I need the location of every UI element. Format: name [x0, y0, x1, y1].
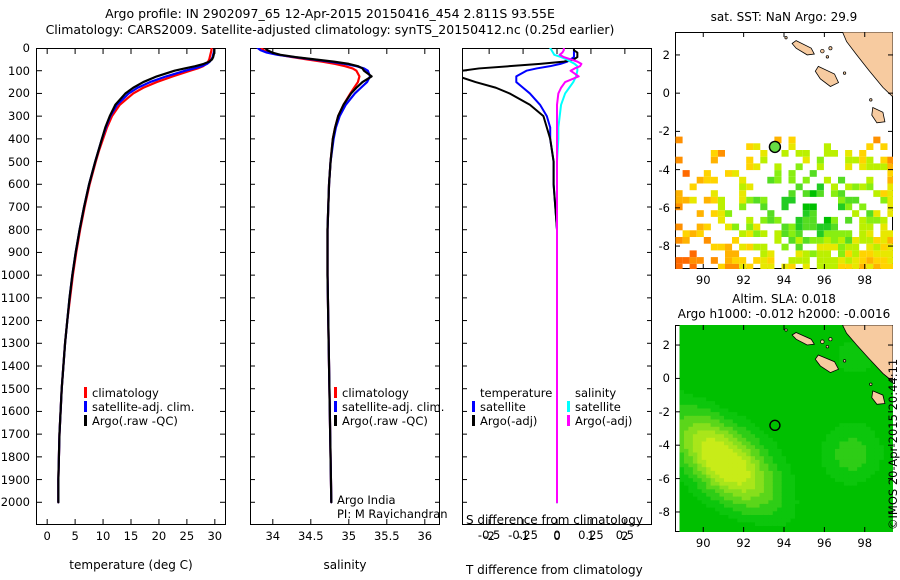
sla-cell [746, 503, 751, 507]
sla-cell [857, 390, 862, 394]
sst-cell [803, 157, 810, 164]
sla-cell [728, 437, 733, 441]
sla-cell [795, 371, 800, 375]
sla-cell [817, 518, 822, 522]
sla-cell [786, 507, 791, 511]
sla-cell [857, 456, 862, 460]
sla-cell [733, 331, 738, 335]
sla-cell [786, 518, 791, 522]
sla-cell [866, 522, 871, 526]
sla-cell [755, 522, 760, 526]
tick-label: 1700 [1, 427, 30, 441]
sla-cell [786, 379, 791, 383]
sla-cell [724, 467, 729, 471]
sla-cell [702, 371, 707, 375]
sla-cell [791, 478, 796, 482]
sla-cell [768, 338, 773, 342]
sla-cell [804, 426, 809, 430]
sla-cell [799, 496, 804, 500]
legend-heading-temperature: temperature [472, 386, 552, 400]
sla-cell [728, 522, 733, 526]
sla-cell [853, 525, 858, 529]
sla-cell [786, 386, 791, 390]
sla-cell [688, 522, 693, 526]
sla-cell [724, 331, 729, 335]
sla-cell [871, 503, 876, 507]
sst-cell [718, 264, 725, 269]
sla-cell [862, 412, 867, 416]
sst-cell [866, 210, 873, 217]
sla-cell [728, 445, 733, 449]
sla-cell [871, 379, 876, 383]
sla-cell [684, 507, 689, 511]
sla-cell [866, 507, 871, 511]
sla-cell [764, 525, 769, 529]
sla-cell [733, 401, 738, 405]
sla-cell [822, 404, 827, 408]
sla-cell [755, 467, 760, 471]
sla-cell [764, 331, 769, 335]
sla-cell [711, 364, 716, 368]
sla-cell [733, 338, 738, 342]
sla-cell [693, 401, 698, 405]
sla-cell [835, 331, 840, 335]
sla-cell [688, 371, 693, 375]
sla-cell [706, 356, 711, 360]
sla-cell [839, 518, 844, 522]
legend-swatch-t-satellite [472, 401, 475, 412]
sla-cell [684, 371, 689, 375]
sla-cell [791, 379, 796, 383]
sla-cell [693, 430, 698, 434]
sst-cell [838, 177, 845, 184]
sla-cell [871, 456, 876, 460]
sla-cell [760, 456, 765, 460]
sla-cell [817, 375, 822, 379]
sla-cell [857, 470, 862, 474]
sla-cell [720, 441, 725, 445]
tick-label: 2000 [1, 495, 30, 509]
sla-cell [711, 452, 716, 456]
sla-cell [848, 467, 853, 471]
salinity-curves [258, 48, 372, 502]
sla-cell [813, 481, 818, 485]
sla-cell [844, 379, 849, 383]
sla-cell [782, 404, 787, 408]
sla-cell [724, 452, 729, 456]
land-islet [826, 345, 829, 348]
sla-cell [702, 325, 707, 328]
sla-cell [862, 511, 867, 515]
sla-cell [693, 437, 698, 441]
sla-cell [697, 511, 702, 515]
sla-cell [862, 470, 867, 474]
sla-cell [799, 485, 804, 489]
sst-cell [810, 250, 817, 257]
argo-float-marker[interactable] [769, 141, 780, 152]
sla-cell [853, 426, 858, 430]
sla-cell [688, 338, 693, 342]
sla-cell [702, 478, 707, 482]
sla-cell [817, 452, 822, 456]
sla-cell [733, 470, 738, 474]
sla-cell [853, 456, 858, 460]
sla-cell [831, 459, 836, 463]
sla-cell [742, 452, 747, 456]
sla-cell [742, 496, 747, 500]
sla-cell [711, 470, 716, 474]
sla-cell [808, 507, 813, 511]
sla-cell [795, 379, 800, 383]
sst-cell [845, 250, 852, 257]
sla-cell [751, 390, 756, 394]
sla-cell [839, 459, 844, 463]
sla-cell [879, 485, 884, 489]
sla-cell [866, 415, 871, 419]
sla-cell [697, 478, 702, 482]
sla-cell [720, 481, 725, 485]
sla-cell [706, 445, 711, 449]
sla-cell [848, 470, 853, 474]
sla-cell [826, 470, 831, 474]
sla-cell [751, 364, 756, 368]
sla-cell [848, 496, 853, 500]
sla-cell [773, 503, 778, 507]
sla-cell [684, 452, 689, 456]
sla-cell [680, 441, 685, 445]
sla-cell [822, 441, 827, 445]
sst-cell [803, 264, 810, 269]
sla-cell [844, 386, 849, 390]
sla-cell [879, 456, 884, 460]
sla-cell [742, 503, 747, 507]
sla-cell [831, 485, 836, 489]
sla-cell [822, 390, 827, 394]
sst-cell [859, 230, 866, 237]
sla-cell [693, 441, 698, 445]
sla-cell [768, 379, 773, 383]
sla-cell [813, 345, 818, 349]
sla-cell [760, 511, 765, 515]
sla-cell [795, 481, 800, 485]
sla-cell [737, 503, 742, 507]
sst-cell [866, 184, 873, 191]
sla-cell [733, 437, 738, 441]
sla-cell [804, 470, 809, 474]
sla-cell [742, 360, 747, 364]
sla-cell [875, 441, 880, 445]
panel-temperature: climatology satellite-adj. clim. Argo(.r… [36, 48, 226, 525]
sla-cell [693, 496, 698, 500]
sla-cell [746, 507, 751, 511]
sla-cell [724, 478, 729, 482]
sla-cell [733, 492, 738, 496]
sla-cell [839, 331, 844, 335]
sla-cell [733, 459, 738, 463]
sst-cell [732, 237, 739, 244]
sla-cell [680, 496, 685, 500]
sla-cell [724, 390, 729, 394]
sla-cell [746, 415, 751, 419]
tick-label: -4 [659, 163, 670, 177]
sla-cell [822, 452, 827, 456]
profile-curve-argo-raw-qc- [58, 48, 214, 502]
sla-cell [862, 426, 867, 430]
sla-cell [813, 375, 818, 379]
map-sst[interactable] [675, 32, 893, 269]
sla-cell [786, 415, 791, 419]
tick-label: 1800 [1, 450, 30, 464]
sla-cell [782, 360, 787, 364]
sla-cell [697, 525, 702, 529]
sst-cell [866, 264, 873, 269]
sla-cell [728, 456, 733, 460]
sla-cell [706, 459, 711, 463]
sla-cell [835, 349, 840, 353]
sla-cell [848, 349, 853, 353]
sla-cell [755, 338, 760, 342]
sla-cell [773, 507, 778, 511]
sla-cell [760, 481, 765, 485]
sla-cell [804, 496, 809, 500]
sla-cell [813, 470, 818, 474]
sla-cell [702, 511, 707, 515]
sla-cell [724, 375, 729, 379]
sla-cell [724, 511, 729, 515]
legend-swatch-s-satellite [567, 401, 570, 412]
sla-map-title-line-2: Argo h1000: -0.012 h2000: -0.0016 [678, 307, 891, 321]
sst-cell [838, 250, 845, 257]
profile-curve-argo-raw-qc- [265, 48, 371, 502]
sla-cell [791, 397, 796, 401]
sla-cell [773, 470, 778, 474]
sla-cell [813, 492, 818, 496]
sla-cell [777, 325, 782, 328]
sla-cell [737, 371, 742, 375]
sla-cell [853, 470, 858, 474]
sla-cell [755, 507, 760, 511]
sla-cell [795, 360, 800, 364]
sla-cell [817, 511, 822, 515]
sla-cell [715, 415, 720, 419]
sla-cell [879, 386, 884, 390]
sla-cell [720, 518, 725, 522]
sla-cell [782, 518, 787, 522]
sla-cell [853, 364, 858, 368]
sla-cell [697, 379, 702, 383]
sla-cell [795, 459, 800, 463]
sla-cell [808, 485, 813, 489]
sst-cell [824, 264, 831, 269]
sla-cell [853, 467, 858, 471]
sla-cell [822, 459, 827, 463]
sla-cell [813, 445, 818, 449]
sla-cell [777, 364, 782, 368]
sla-cell [839, 345, 844, 349]
sla-cell [773, 334, 778, 338]
sst-cell [746, 197, 753, 204]
sla-cell [791, 325, 796, 328]
sla-cell [817, 386, 822, 390]
sla-cell [835, 390, 840, 394]
sla-cell [813, 511, 818, 515]
land-islet [821, 340, 825, 344]
sla-cell [857, 445, 862, 449]
sla-cell [822, 470, 827, 474]
sla-cell [715, 470, 720, 474]
sla-cell [835, 345, 840, 349]
sla-cell [684, 456, 689, 460]
sla-cell [684, 518, 689, 522]
sla-cell [786, 334, 791, 338]
sla-cell [773, 379, 778, 383]
sla-cell [724, 412, 729, 416]
sst-cell [782, 204, 789, 211]
sla-cell [777, 467, 782, 471]
sla-cell [799, 325, 804, 328]
sla-cell [813, 415, 818, 419]
sla-cell [706, 331, 711, 335]
sla-cell [786, 397, 791, 401]
sla-cell [697, 419, 702, 423]
sla-cell [795, 397, 800, 401]
map-sla[interactable] [675, 325, 893, 532]
sla-cell [831, 397, 836, 401]
sst-cell [760, 150, 767, 157]
sla-cell [875, 445, 880, 449]
sst-cell [824, 237, 831, 244]
sla-cell [875, 375, 880, 379]
sla-cell [684, 356, 689, 360]
sst-cell [873, 237, 880, 244]
sla-cell [702, 360, 707, 364]
legend-swatch-climatology [334, 387, 337, 398]
sla-cell [866, 503, 871, 507]
sla-cell [755, 478, 760, 482]
legend-label: satellite [480, 400, 526, 414]
sla-cell [853, 360, 858, 364]
sla-cell [786, 525, 791, 529]
sla-cell [862, 481, 867, 485]
sla-cell [760, 419, 765, 423]
sla-cell [773, 412, 778, 416]
sla-cell [688, 503, 693, 507]
sst-cell [711, 150, 718, 157]
sst-cell [746, 264, 753, 269]
sst-cell [767, 177, 774, 184]
sla-cell [684, 412, 689, 416]
sst-cell [711, 210, 718, 217]
sla-cell [742, 507, 747, 511]
sst-cell [866, 244, 873, 251]
sla-cell [768, 522, 773, 526]
sla-cell [693, 360, 698, 364]
sst-cell [732, 264, 739, 269]
sst-cell [774, 163, 781, 170]
tick-label: -8 [659, 505, 670, 519]
sst-cell [676, 190, 683, 197]
sla-cell [808, 496, 813, 500]
sla-cell [728, 415, 733, 419]
sla-cell [839, 470, 844, 474]
sst-cell [796, 150, 803, 157]
sla-cell [875, 386, 880, 390]
sla-cell [835, 419, 840, 423]
sla-cell [844, 437, 849, 441]
sla-cell [795, 485, 800, 489]
sla-cell [835, 452, 840, 456]
sla-cell [857, 379, 862, 383]
sst-cell [859, 217, 866, 224]
sla-cell [715, 325, 720, 328]
sla-cell [808, 397, 813, 401]
sla-cell [733, 390, 738, 394]
sla-cell [791, 386, 796, 390]
sla-cell [684, 419, 689, 423]
sst-cell [789, 137, 796, 144]
sst-cell [866, 250, 873, 257]
sla-cell [680, 415, 685, 419]
sla-cell [746, 467, 751, 471]
sla-cell [782, 430, 787, 434]
sla-cell [835, 404, 840, 408]
sla-cell [826, 478, 831, 482]
sla-cell [702, 430, 707, 434]
sla-cell [791, 345, 796, 349]
sla-cell [786, 478, 791, 482]
sla-cell [728, 470, 733, 474]
sla-cell [817, 445, 822, 449]
sla-cell [875, 459, 880, 463]
sla-cell [760, 412, 765, 416]
tick-label: 2 [663, 48, 670, 62]
sst-cell [803, 150, 810, 157]
sla-cell [711, 397, 716, 401]
sst-cell [810, 224, 817, 231]
sla-cell [808, 470, 813, 474]
sla-cell [751, 375, 756, 379]
sst-cell [887, 230, 893, 237]
sla-cell [791, 470, 796, 474]
sla-cell [791, 375, 796, 379]
sla-cell [866, 390, 871, 394]
sla-cell [733, 481, 738, 485]
sla-cell [826, 485, 831, 489]
sla-cell [773, 437, 778, 441]
sla-cell [773, 452, 778, 456]
sst-cell [789, 177, 796, 184]
sla-cell [791, 415, 796, 419]
sla-cell [857, 360, 862, 364]
sla-cell [706, 478, 711, 482]
sla-cell [746, 437, 751, 441]
sla-cell [866, 467, 871, 471]
sla-cell [804, 386, 809, 390]
sla-cell [848, 492, 853, 496]
sla-cell [693, 456, 698, 460]
sla-cell [875, 379, 880, 383]
sla-cell [706, 334, 711, 338]
sla-cell [826, 349, 831, 353]
sla-cell [839, 525, 844, 529]
sla-cell [693, 470, 698, 474]
sla-cell [831, 525, 836, 529]
sst-cell [873, 163, 880, 170]
sla-cell [755, 459, 760, 463]
sla-cell [844, 412, 849, 416]
tick-label: 900 [8, 245, 30, 259]
sla-cell [817, 349, 822, 353]
